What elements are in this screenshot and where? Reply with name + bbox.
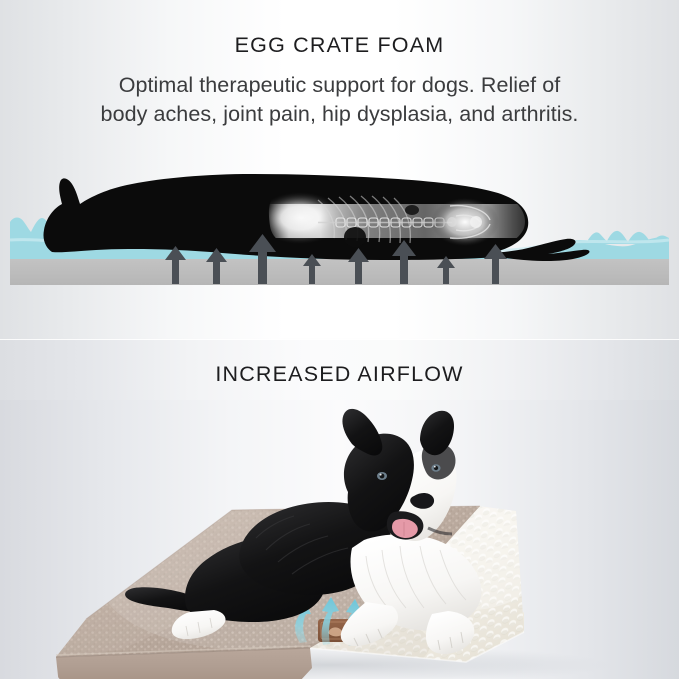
panel-description-egg-crate-foam: Optimal therapeutic support for dogs. Re…	[26, 71, 653, 129]
product-infographic: EGG CRATE FOAM Optimal therapeutic suppo…	[0, 0, 679, 679]
panel-heading-egg-crate-foam: EGG CRATE FOAM	[0, 32, 679, 58]
description-line-1: Optimal therapeutic support for dogs. Re…	[26, 71, 653, 100]
dog-xray-support-diagram	[0, 160, 679, 305]
panel-heading-increased-airflow: INCREASED AIRFLOW	[0, 361, 679, 387]
border-collie-on-egg-crate-dog-bed	[0, 400, 679, 679]
panel-egg-crate-foam: EGG CRATE FOAM Optimal therapeutic suppo…	[0, 0, 679, 340]
foam-base-layer	[10, 256, 669, 285]
description-line-2: body aches, joint pain, hip dysplasia, a…	[26, 100, 653, 129]
